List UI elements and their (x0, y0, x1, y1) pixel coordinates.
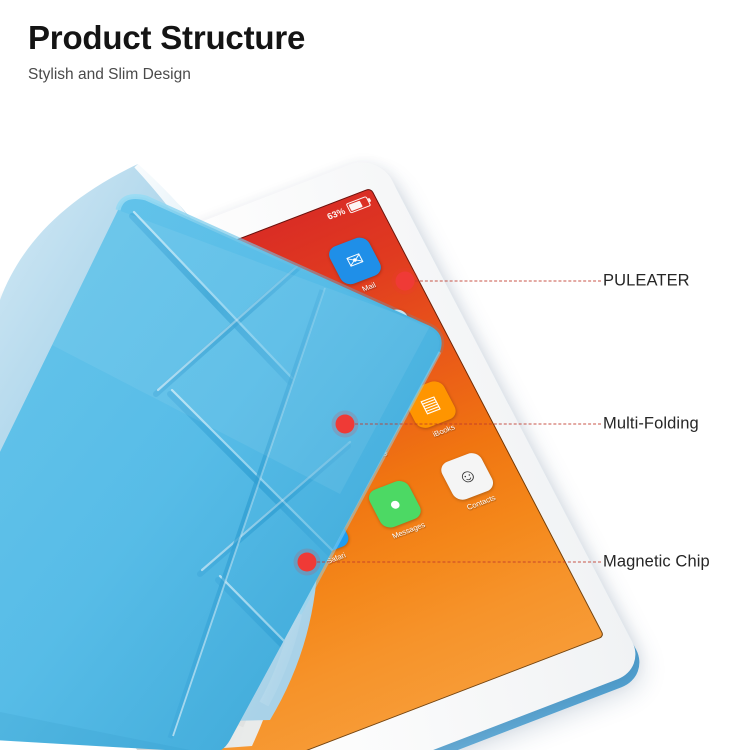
callout-label: Multi-Folding (603, 415, 699, 434)
callout-leader-line (317, 562, 601, 563)
callout-label: PULEATER (603, 272, 690, 291)
callout-leader-line (415, 281, 601, 282)
page-subtitle: Stylish and Slim Design (28, 64, 628, 86)
page-title: Product Structure (28, 18, 628, 58)
callout-marker-multi-folding[interactable] (336, 415, 355, 434)
callout-marker-puleater[interactable] (396, 272, 415, 291)
smart-cover (0, 94, 490, 750)
callout-leader-line (355, 424, 601, 425)
cover-shape (0, 94, 490, 750)
callout-label: Magnetic Chip (603, 553, 710, 572)
product-image: 63% ▶FaceTime17Calendar✿Photos◉Camera✉Ma… (0, 104, 750, 750)
callout-marker-magnetic-chip[interactable] (298, 553, 317, 572)
header: Product Structure Stylish and Slim Desig… (28, 18, 628, 86)
product-infographic: Product Structure Stylish and Slim Desig… (0, 0, 750, 750)
